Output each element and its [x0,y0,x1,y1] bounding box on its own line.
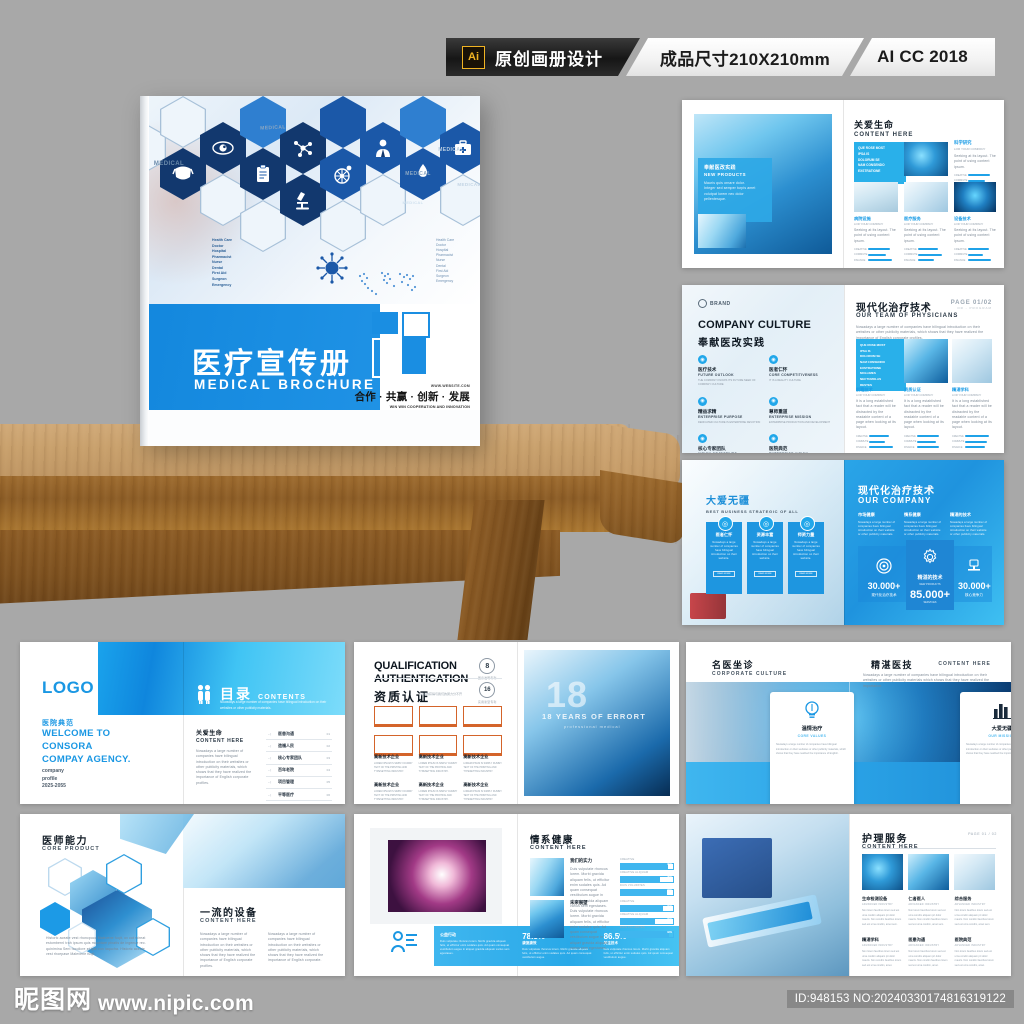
panel3-right-title-en: CONTENT HERE [938,661,991,667]
panel5-title-cn: 情系健康 [530,832,574,846]
spread3-right-title-en: OUR COMPANY [858,496,932,505]
panel2-photo: 18 18 YEARS OF ERRORT professional medic… [524,650,670,796]
spread2-right-title-cn: 现代化治疗技术 [856,299,932,314]
certificate-frame [419,706,458,727]
panel-contents[interactable]: LOGO 医院典范 WELCOME TO CONSORA COMPAY AGEN… [20,642,345,804]
certificate-caption: 高新技术企业LOREM IPSUM IS SIMPLY DUMMY TEXT O… [374,754,413,774]
mockup-stage: Ai 原创画册设计 成品尺寸210X210mm AI CC 2018 MEDIC… [0,0,1024,1024]
tag-size: 成品尺寸210X210mm [626,38,864,76]
panel4-left-body: Historic aceate vest rhoncpocc Malevene … [46,936,151,957]
spread-new-products[interactable]: 奉献医改实践 NEW PRODUCTS Mauris quis ornare d… [682,100,1004,268]
toc-row[interactable]: – | 平等医疗06 [266,789,332,801]
spread1-card-body-2: Seeking at its layout. The point of usin… [854,228,898,244]
book-cover-mockup: MEDICAL MEDICAL MEDICAL MEDICAL MEDICAL … [140,96,480,446]
illustrator-icon: Ai [462,46,485,69]
spread2-photo-3 [952,339,992,383]
spread1-left-title-en: NEW PRODUCTS [704,172,766,177]
stat-block-center: 精湛的技术NEW PRODUCTS85.000+SERVICES [906,540,954,610]
hex-label-medical-2: MEDICAL [249,101,298,155]
panel1-section-body: Nowadays a large number of companies hav… [196,749,258,786]
spread-our-company[interactable]: 大爱无疆 BEST BUSINESS STRATEGIC OF ALL ◎医者仁… [682,460,1004,625]
culture-icon: ◉ [769,397,778,406]
hex-label-medical-6: MEDICAL [390,176,436,228]
spread3-left-card[interactable]: ◎师资力量Nowadays a large number of companie… [788,522,824,594]
spread1-card-sub-2: LOR YOUR COMPANY [854,222,898,226]
panel3-title-cn: 名医坐诊 [712,658,754,671]
card-circle-icon: ◎ [800,516,815,531]
toc-row[interactable]: – | 医患沟通01 [266,728,332,740]
panel6-title-en: CONTENT HERE [862,844,919,850]
cover-keyword-list: Health Care Doctor Hospital Pharmacist N… [212,238,252,288]
read-more-button[interactable]: READ MORE [713,571,734,577]
hex-label-medical-1: MEDICAL [146,138,192,190]
panel1-welcome: WELCOME TO CONSORA COMPAY AGENCY. [42,728,131,766]
meter-row: DUIS VOLUPATES92% [620,926,674,938]
panel3-right-title-cn: 精湛医技 [871,658,913,671]
spread1-left-body: Mauris quis ornare dolor. Integer sed se… [704,181,756,202]
nursing-item: 生命检测设备ADVANCED INDUSTRYNon lorem faucibu… [862,896,903,927]
toc-row[interactable]: – | 项目管理05 [266,777,332,789]
watermark: 昵图网 www.nipic.com [14,980,254,1016]
spread1-right-title-cn: 关爱生命 [854,118,913,131]
spread1-left-title-cn: 奉献医改实践 [704,164,766,171]
certificate-caption: 高新技术企业LOREM IPSUM IS SIMPLY DUMMY TEXT O… [374,782,413,802]
panel6-page-no: PAGE 01 / 02 [968,832,997,836]
panel2-badge-2: 16 实用新型专利 [478,682,497,704]
panel1-logo: LOGO [42,678,94,698]
panel5-title-en: CONTENT HERE [530,845,587,851]
cover-hex-pattern: MEDICAL MEDICAL MEDICAL MEDICAL MEDICAL … [140,96,480,304]
watermark-cn: 昵图网 [14,980,92,1016]
bulb-icon [776,700,848,720]
panel1-toc-desc: Nowadays a large number of companies hav… [220,700,332,711]
toc-row[interactable]: – | 核心专家团队03 [266,752,332,764]
culture-item: ◉医院典范ENTERPRISE VISIONFORWARD BUSINESS P… [769,434,832,453]
tag-version-label: AI CC 2018 [877,47,968,67]
panel-qualification[interactable]: QUALIFICATION AUTHENTICATION 资质认证 证书的获得与… [354,642,679,804]
watermark-url: www.nipic.com [98,992,254,1016]
toc-row[interactable]: – | 百年老院04 [266,765,332,777]
culture-item: ◉医疗技术FUTURE OUTLOOKTHE COMPANY KNOWS ITS… [698,355,761,388]
spread2-card: 精湛学科LOR YOUR COMPANYIt is a long establi… [952,387,994,449]
nursing-item: 医患沟通ADVANCED INDUSTRYNon lorem faucibus … [908,937,949,968]
nursing-item: 医院典范ADVANCED INDUSTRYNon lorem faucibus … [955,937,996,968]
tag-size-label: 成品尺寸210X210mm [660,45,830,70]
tag-version: AI CC 2018 [850,38,995,76]
id-tag: ID:948153 NO:20240330174816319122 [787,990,1014,1008]
nursing-photo [908,854,949,890]
culture-item: ◉精益求精ENTERPRISE PURPOSEDEDICATED CULTURE… [698,397,761,425]
panel2-badge-1: 8 国家发明专利 [478,658,497,680]
culture-icon: ◉ [698,355,707,364]
spread1-card-photo-4 [954,182,996,212]
cover-title-en: MEDICAL BROCHURE [194,377,375,392]
presentation-icon [390,930,418,956]
panel6-title-cn: 护理服务 [862,830,908,845]
spread2-title-en: COMPANY CULTURE [698,319,811,331]
panel4-col1: Nowadays a large number of companies hav… [200,932,262,969]
tag-original-design: Ai 原创画册设计 [446,38,640,76]
panel4-col2: Nowadays a large number of companies hav… [268,932,330,964]
spread2-title-cn: 奉献医改实践 [698,334,765,349]
culture-icon: ◉ [769,355,778,364]
spread1-card-body-4: Seeking at its layout. The point of usin… [954,228,996,244]
spread1-card-photo-3 [904,182,948,212]
read-more-button[interactable]: READ MORE [754,571,775,577]
cover-square-4 [372,338,402,378]
spread2-card: 前瞻技术LOR YOUR COMPANYIt is a long establi… [856,387,898,449]
panel4-title-cn: 医师能力 [42,832,88,847]
header-ribbon: Ai 原创画册设计 成品尺寸210X210mm AI CC 2018 [446,38,1024,76]
spread2-page-no-sub: OR - PROGRAM [951,306,992,310]
card-circle-icon: ◎ [718,516,733,531]
spread3-right-title-cn: 现代化治疗技术 [858,482,935,497]
toc-row[interactable]: – | 核心竞争力07 [266,801,332,804]
spread1-card-sub-3: LOR YOUR COMPANY [904,222,948,226]
panel2-photo-caption: 18 YEARS OF ERRORT [542,712,646,721]
spread2-photo-2 [904,339,948,383]
microscope-icon [966,558,982,574]
panel3-title-en: CORPORATE CULTURE [712,671,787,677]
spread3-left-card[interactable]: ◎医者仁怀Nowadays a large number of companie… [706,522,742,594]
book-spine [140,96,149,446]
meter-row: DUIS VOLUPATES88% [620,884,674,896]
certificate-caption: 高新技术企业LOREM IPSUM IS SIMPLY DUMMY TEXT O… [419,782,458,802]
certificate-caption: 高新技术企业LOREM IPSUM IS SIMPLY DUMMY TEXT O… [463,754,502,774]
certificate-caption: 高新技术企业LOREM IPSUM IS SIMPLY DUMMY TEXT O… [463,782,502,802]
target-icon [876,558,892,574]
culture-icon: ◉ [698,397,707,406]
spread1-panel-text: QUE ROSE MOST IPSA IS DOLORUM SE NAM CON… [858,146,902,175]
spread2-brand: BRAND [698,299,731,308]
panel6-photo [686,814,849,976]
culture-card[interactable]: 大爱无疆OUR MISSIONNowadays a large number o… [960,692,1011,804]
virus-icon [315,251,349,285]
cover-square-3 [402,338,426,374]
spread1-card-sub-1: LOR YOUR COMPANY [954,147,996,151]
panel-corporate-culture[interactable]: 名医坐诊 CORPORATE CULTURE 精湛医技 CONTENT HERE… [686,642,1011,804]
nursing-photo [862,854,903,890]
hex-photo [40,902,70,936]
panel4-top-photo [183,814,345,888]
spread3-left-title-cn: 大爱无疆 [706,492,824,507]
toc-row[interactable]: – | 造福人民02 [266,740,332,752]
culture-item: ◉核心专家团队VISION OBJECTIVESA CONTAINS NEW I… [698,434,761,453]
health-block: 未来展望Duis vulputate rhoncus lorem. Morbi … [570,900,614,951]
spread2-right-title-en: OUR TEAM OF PHYSICIANS [856,313,958,319]
panel2-photo-sub: professional medical [564,724,620,729]
panel1-section-cn: 关爱生命 [196,728,258,737]
certificate-caption: 高新技术企业LOREM IPSUM IS SIMPLY DUMMY TEXT O… [419,754,458,774]
hex-outline [106,854,142,894]
footer-item: 公益行动Duis vulputate rhoncus lorem. Morbi … [434,926,516,966]
spread3-right-col: 市场健康Nowadays a large number of companies… [858,512,898,537]
panel5-photo-1 [530,858,564,896]
card-circle-icon: ◎ [759,516,774,531]
hex-label-medical-5: MEDICAL [446,158,480,210]
gear-icon [921,548,939,566]
spread1-card-title-1: 科学研究 [954,140,996,146]
spread1-right-title-en: CONTENT HERE [854,132,913,138]
culture-card[interactable]: 温情治疗CORE VALUESNowadays a large number o… [770,692,854,804]
cover-title-cn: 医疗宣传册 [192,340,352,382]
world-map-icon [352,266,424,300]
certificate-frame [374,706,413,727]
cover-square-2 [402,312,430,338]
panel5-photo-2 [530,900,564,938]
panel-nursing[interactable]: 护理服务 CONTENT HERE PAGE 01 / 02 生命检测设备ADV… [686,814,1011,976]
meter-row: CREATIVE80% [620,900,674,912]
spread2-card: 资质认证LOR YOUR COMPANYIt is a long establi… [904,387,946,449]
culture-item: ◉尊师重道ENTERPRISE MISSIONENTERPRISE PRODUC… [769,397,832,425]
spread3-left-title-en: BEST BUSINESS STRATEGIC OF ALL [706,509,824,514]
cover-slogan-cn: 合作 · 共赢 · 创新 · 发展 [350,389,470,404]
people-icon [196,684,212,704]
read-more-button[interactable]: READ MORE [795,571,816,577]
panel2-title-cn: 资质认证 [374,688,430,705]
cover-url: WWW.WEBSITE.COM [350,384,470,388]
panel1-profile: company profile 2025-2055 [42,768,66,791]
meter-row: CREATIVE90% [620,858,674,870]
panel2-title-cn-sub: 证书的获得与我们的努力分不开 [420,692,464,696]
spread3-left-card[interactable]: ◎资源丰富Nowadays a large number of companie… [747,522,783,594]
cover-hex-plain-icon [320,96,366,148]
panel-core-product[interactable]: 医师能力 CORE PRODUCT Historic aceate vest r… [20,814,345,976]
nursing-item: 综合服务ADVANCED INDUSTRYNon lorem faucibus … [955,896,996,927]
spread1-card-sub-4: LOR YOUR COMPANY [954,222,996,226]
spread1-card-body-1: Seeking at its layout. The point of usin… [954,154,996,170]
cover-slogan-en: WIN WIN COOPERATION AND INNOVATION [350,405,470,409]
stat-block-left: 30.000+现代化治疗技术 [864,558,904,598]
panel1-section-en: CONTENT HERE [196,738,258,744]
spread1-card-body-3: Seeking at its layout. The point of usin… [904,228,948,244]
certificate-frame [463,706,502,727]
culture-icon: ◉ [698,434,707,443]
tag-original-label: 原创画册设计 [495,45,603,70]
cover-keyword-list-2: Health Care Doctor Hospital Pharmacist N… [436,238,472,284]
spread-company-culture[interactable]: BRAND COMPANY CULTURE 奉献医改实践 ◉医疗技术FUTURE… [682,285,1004,453]
culture-icon: ◉ [769,434,778,443]
panel3-right-body: Nowadays a large number of companies hav… [863,673,991,689]
panel5-photo [388,840,486,912]
panel-health[interactable]: 公益行动Duis vulputate rhoncus lorem. Morbi … [354,814,679,976]
spread1-hero-photo: 奉献医改实践 NEW PRODUCTS Mauris quis ornare d… [694,114,832,254]
panel1-sub-cn: 医院典范 [42,718,74,728]
cover-slogan-block: WWW.WEBSITE.COM 合作 · 共赢 · 创新 · 发展 WIN WI… [350,384,470,409]
panel2-photo-num: 18 [546,674,588,716]
nursing-item: 仁者医人ADVANCED INDUSTRYNon lorem faucibus … [908,896,949,927]
spread3-right-col: 情系健康Nowadays a large number of companies… [904,512,944,537]
spread1-inset-photo [698,214,746,248]
brand-circle-icon [698,299,707,308]
panel2-title-en: QUALIFICATION AUTHENTICATION [374,660,474,686]
spread2-panel-text: QUE ROSE MOST IPSA IS DOLORUM SE NAM CON… [860,343,902,389]
spread1-card-photo-1 [904,142,948,176]
culture-item: ◉医者仁怀CORE COMPETITIVENESSIT IS A REALITY… [769,355,832,388]
meter-row: CREATIVE ALIQUAM65% [620,913,674,925]
spread1-card-photo-2 [854,182,898,212]
spread3-right-col: 精湛的技术Nowadays a large number of companie… [950,512,990,537]
chart-icon [966,700,1011,720]
panel4-sub-en: CONTENT HERE [200,918,257,924]
nursing-item: 精湛学科ADVANCED INDUSTRYNon lorem faucibus … [862,937,903,968]
nursing-photo [954,854,995,890]
stat-block-right: 30.000+核心竞争力 [958,558,990,598]
panel4-title-en: CORE PRODUCT [42,846,100,852]
panel4-sub-cn: 一流的设备 [200,904,258,919]
cover-square-1 [372,312,398,334]
meter-row: CREATIVE ALIQUAM75% [620,871,674,883]
